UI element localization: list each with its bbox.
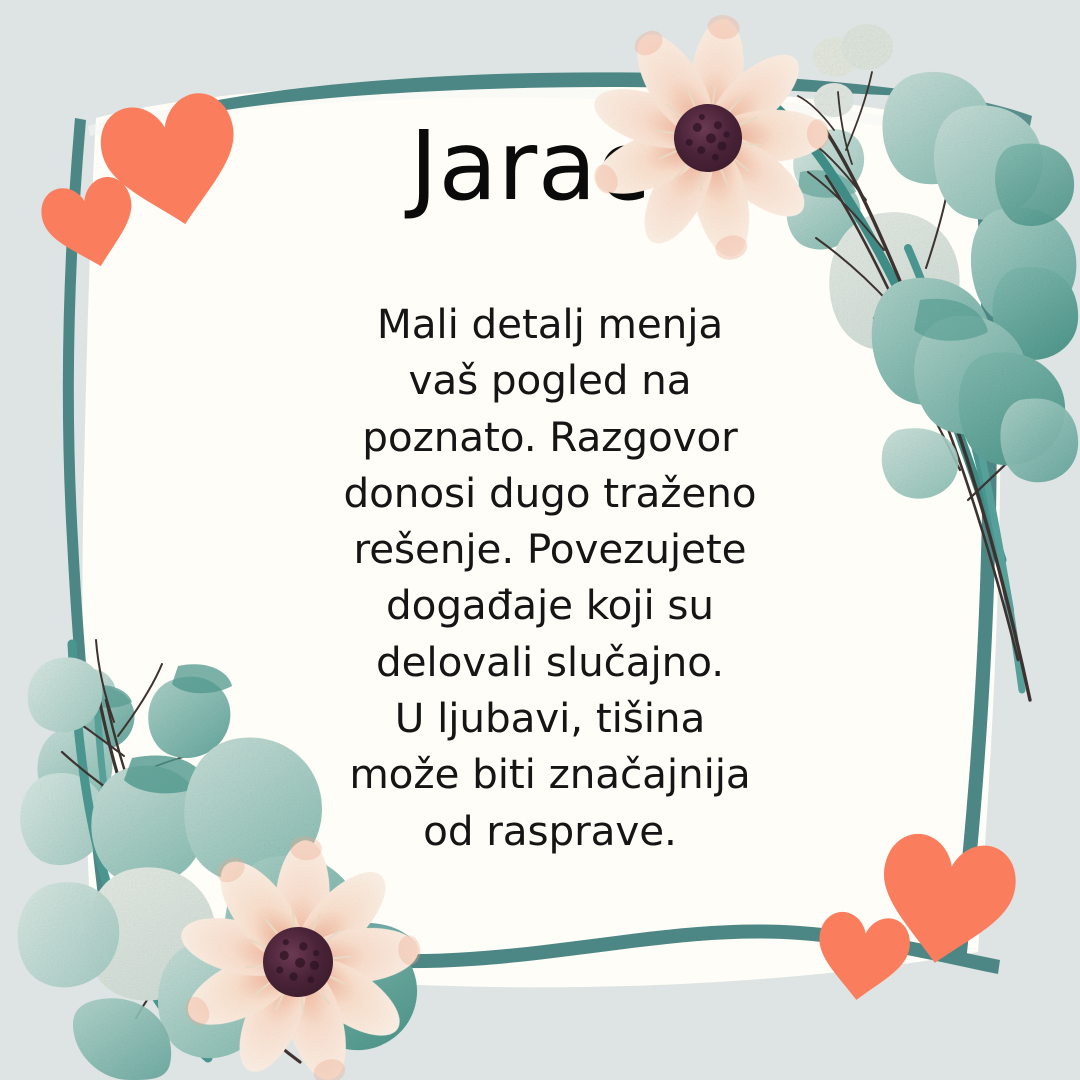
eucalyptus-leaf	[914, 316, 1027, 434]
flower-stamen	[241, 905, 355, 1019]
horoscope-body-text: Mali detalj menja vaš pogled na poznato.…	[290, 296, 810, 859]
body-line: od rasprave.	[290, 803, 810, 859]
heart-icon	[811, 909, 913, 1006]
foreground-artwork-layer	[0, 0, 1080, 1080]
card-border-right	[952, 102, 997, 962]
eucalyptus-leaf	[882, 428, 959, 498]
card-panel	[82, 82, 1000, 988]
flower-center-texture	[684, 112, 732, 162]
body-line: događaje koji su	[290, 577, 810, 633]
eucalyptus-leaf	[73, 998, 171, 1080]
body-line: može biti značajnija	[290, 746, 810, 802]
eucalyptus-leaf	[959, 352, 1066, 465]
eucalyptus-bottom-left-back	[20, 669, 134, 865]
card-border-top-extend	[938, 94, 1032, 126]
eucalyptus-leaf	[995, 144, 1074, 227]
eucalyptus-leaf	[86, 867, 215, 1000]
eucalyptus-leaf	[992, 267, 1078, 360]
eucalyptus-stem-thick-2	[908, 248, 1010, 610]
eucalyptus-top-right-back	[787, 24, 991, 351]
eucalyptus-leaf	[1000, 399, 1078, 483]
flower-center	[260, 924, 337, 1001]
eucalyptus-stem-thick-1	[772, 104, 1002, 560]
eucalyptus-leaf	[148, 677, 230, 758]
eucalyptus-leaf	[872, 278, 991, 405]
eucalyptus-leaf	[172, 664, 232, 693]
body-line: donosi dugo traženo	[290, 465, 810, 521]
body-line: delovali slučajno.	[290, 634, 810, 690]
flower-center	[670, 100, 747, 177]
body-line: U ljubavi, tišina	[290, 690, 810, 746]
heart-group-top-left	[36, 87, 251, 277]
eucalyptus-leaf	[934, 106, 1043, 220]
eucalyptus-branch-bottom-left	[18, 640, 418, 1080]
eucalyptus-leaf	[124, 756, 206, 794]
eucalyptus-leaf	[91, 766, 205, 886]
eucalyptus-leaf	[184, 738, 322, 883]
eucalyptus-leaf	[158, 942, 269, 1059]
eucalyptus-stem-thick-3	[952, 338, 1022, 690]
eucalyptus-stem-thick-1	[72, 644, 208, 1058]
heart-icon	[94, 87, 251, 238]
eucalyptus-leaf	[332, 922, 418, 959]
body-line: Mali detalj menja	[290, 296, 810, 352]
card-border-bottom	[92, 922, 1000, 974]
greeting-card-canvas: Jarac Mali detalj menja vaš pogled na po…	[0, 0, 1080, 1080]
heart-icon	[36, 172, 145, 277]
eucalyptus-twigs-top-right	[798, 72, 1054, 700]
zodiac-sign-title: Jarac	[0, 118, 1070, 216]
eucalyptus-leaf	[18, 882, 120, 987]
eucalyptus-leaf	[914, 299, 988, 341]
body-line: vaš pogled na	[290, 352, 810, 408]
flower-stamen	[649, 79, 766, 196]
eucalyptus-leaf	[302, 932, 417, 1050]
eucalyptus-twigs-bottom-left	[58, 640, 306, 1062]
eucalyptus-leaf	[28, 657, 103, 732]
eucalyptus-leaf	[225, 856, 362, 1003]
card-border-top	[196, 72, 960, 114]
body-line: poznato. Razgovor	[290, 409, 810, 465]
flower-top-right	[571, 0, 847, 276]
eucalyptus-leaf	[971, 208, 1076, 325]
card-text-layer: Jarac Mali detalj menja vaš pogled na po…	[0, 0, 1080, 1080]
card-border-left	[63, 118, 112, 921]
flower-bottom-left	[162, 823, 433, 1080]
flower-center-texture	[273, 936, 322, 987]
foliage-midground-layer	[0, 0, 1080, 1080]
heart-icon	[870, 829, 1022, 975]
card-panel-glow	[88, 88, 1000, 150]
background-artwork-layer	[0, 0, 1080, 1080]
eucalyptus-branch-top-right	[772, 72, 1078, 700]
eucalyptus-stem-thick-2	[96, 680, 146, 952]
body-line: rešenje. Povezujete	[290, 521, 810, 577]
heart-group-bottom-right	[811, 829, 1021, 1007]
